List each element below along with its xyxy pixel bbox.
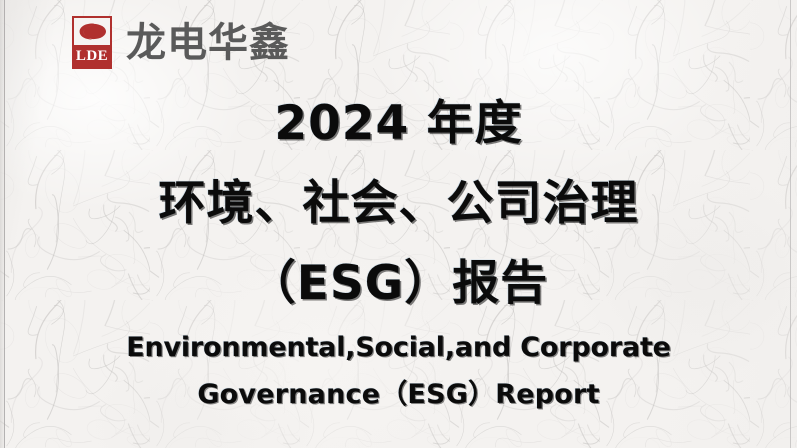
title-line-year: 2024 年度 bbox=[0, 84, 797, 164]
title-line-topic: 环境、社会、公司治理 bbox=[0, 164, 797, 244]
subtitle-line-1: Environmental,Social,and Corporate bbox=[0, 324, 797, 371]
logo-abbreviation-panel: LDE bbox=[74, 45, 110, 67]
esg-report-cover-slide: LDE 龙电华鑫 2024 年度 环境、社会、公司治理 （ESG）报告 Envi… bbox=[0, 0, 797, 448]
subtitle-line-2: Governance（ESG）Report bbox=[0, 371, 797, 418]
brand-lockup: LDE 龙电华鑫 bbox=[72, 16, 290, 69]
swoosh-icon bbox=[74, 18, 110, 45]
logo-swoosh-panel bbox=[74, 18, 110, 45]
title-line-esg-report: （ESG）报告 bbox=[0, 244, 797, 324]
company-name-cn: 龙电华鑫 bbox=[126, 23, 290, 63]
logo-abbreviation-text: LDE bbox=[76, 49, 108, 64]
company-logo-mark: LDE bbox=[72, 16, 112, 69]
cover-title-block: 2024 年度 环境、社会、公司治理 （ESG）报告 Environmental… bbox=[0, 84, 797, 418]
